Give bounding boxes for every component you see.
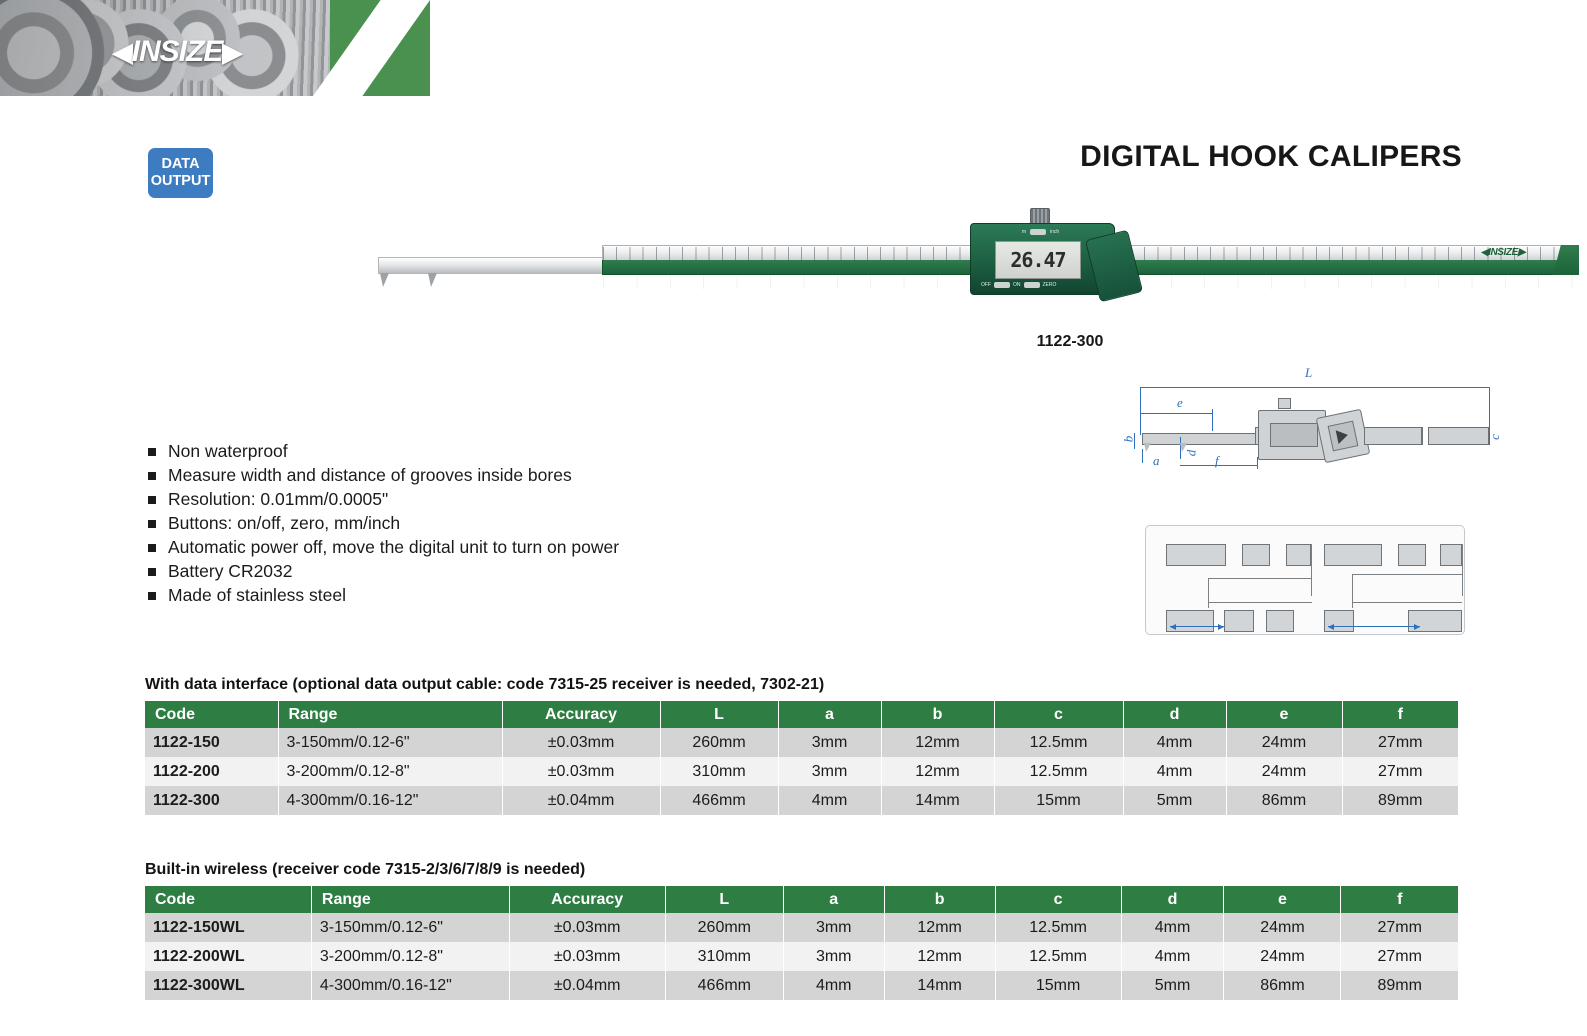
col-header-range: Range [278,701,502,728]
app-left-top-part-c [1286,544,1311,566]
cell-e: 24mm [1224,913,1341,942]
list-item: Made of stainless steel [148,584,788,607]
logo-left-arrow-icon: ◀ [113,37,132,68]
cell-b: 12mm [884,942,995,971]
cell-accuracy: ±0.04mm [509,971,665,1000]
app-left-tool-bottom [1208,602,1312,603]
data-interface-table: Code Range Accuracy L a b c d e f 1122-1… [145,701,1458,815]
feature-text: Battery CR2032 [168,560,293,583]
list-item: Resolution: 0.01mm/0.0005" [148,488,788,511]
col-header-a: a [783,886,884,913]
cell-range: 4-300mm/0.16-12" [311,971,509,1000]
app-left-tool-top [1208,578,1312,579]
dim-ext-L-left [1140,387,1141,435]
diagram-thumb-roller [1278,398,1291,409]
cell-e: 86mm [1226,786,1342,815]
hook-jaw-tip-1-icon [380,273,389,287]
diagram-beam-mid [1364,427,1422,445]
dim-label-e: e [1177,395,1183,411]
app-left-break-line [1311,544,1312,596]
col-header-range: Range [311,886,509,913]
wireless-table-section: Built-in wireless (receiver code 7315-2/… [145,861,1458,1000]
cell-e: 24mm [1226,757,1342,786]
cell-range: 4-300mm/0.16-12" [278,786,502,815]
feature-text: Resolution: 0.01mm/0.0005" [168,488,388,511]
dim-ext-a [1142,449,1143,463]
cell-c: 12.5mm [995,942,1121,971]
zero-label: ZERO [1043,282,1057,288]
data-output-badge: DATA OUTPUT [148,148,213,198]
app-left-bot-part-b [1224,610,1254,632]
cell-f: 89mm [1342,786,1458,815]
diagram-hook-tip-2-icon [1180,443,1187,452]
page-title: DIGITAL HOOK CALIPERS [1080,140,1462,174]
col-header-d: d [1121,886,1224,913]
app-right-tool-top [1352,574,1462,575]
diagram-head-lcd [1270,423,1318,447]
list-item: Automatic power off, move the digital un… [148,536,788,559]
head-triangle-icon [1105,257,1121,276]
square-bullet-icon [148,520,156,528]
col-header-a: a [778,701,881,728]
cell-e: 24mm [1226,728,1342,757]
table-row: 1122-150 3-150mm/0.12-6" ±0.03mm 260mm 3… [145,728,1458,757]
beam-insize-logo: ◀INSIZE▶ [1443,245,1563,260]
cell-f: 27mm [1342,757,1458,786]
cell-L: 260mm [660,728,778,757]
app-left-top-part-a [1166,544,1226,566]
badge-line-1: DATA [161,156,199,173]
col-header-accuracy: Accuracy [509,886,665,913]
cell-b: 12mm [884,913,995,942]
dim-label-f: f [1215,453,1219,469]
list-item: Measure width and distance of grooves in… [148,464,788,487]
cell-accuracy: ±0.03mm [502,757,660,786]
feature-text: Buttons: on/off, zero, mm/inch [168,512,400,535]
cell-range: 3-150mm/0.12-6" [278,728,502,757]
table-row: 1122-200 3-200mm/0.12-8" ±0.03mm 310mm 3… [145,757,1458,786]
list-item: Buttons: on/off, zero, mm/inch [148,512,788,535]
cell-accuracy: ±0.03mm [509,942,665,971]
col-header-c: c [994,701,1123,728]
cell-a: 4mm [783,971,884,1000]
cell-range: 3-150mm/0.12-6" [311,913,509,942]
col-header-b: b [881,701,994,728]
cell-code: 1122-150WL [145,913,311,942]
app-left-tool-shank [1208,578,1209,608]
cell-d: 5mm [1121,971,1224,1000]
dim-ext-e [1212,409,1213,431]
square-bullet-icon [148,544,156,552]
dim-line-e [1140,413,1213,414]
diagram-beam-right [1428,427,1489,445]
cell-L: 310mm [665,942,783,971]
list-item: Battery CR2032 [148,560,788,583]
col-header-f: f [1342,701,1458,728]
onoff-button[interactable] [994,282,1010,288]
app-left-top-part-b [1242,544,1270,566]
cell-L: 466mm [665,971,783,1000]
off-label: OFF [981,282,991,288]
cell-range: 3-200mm/0.12-8" [311,942,509,971]
table-row: 1122-150WL 3-150mm/0.12-6" ±0.03mm 260mm… [145,913,1458,942]
cell-d: 5mm [1123,786,1226,815]
diagram-break-mark [1421,427,1423,445]
cell-c: 15mm [995,971,1121,1000]
table-row: 1122-300 4-300mm/0.16-12" ±0.04mm 466mm … [145,786,1458,815]
wireless-table: Code Range Accuracy L a b c d e f 1122-1… [145,886,1458,1000]
top-button-left-label: m [1022,229,1026,235]
feature-text: Measure width and distance of grooves in… [168,464,572,487]
head-button-row[interactable]: OFF ON ZERO [981,279,1109,290]
app-right-top-part-b [1398,544,1426,566]
app-right-top-part-c [1440,544,1462,566]
feature-text: Made of stainless steel [168,584,346,607]
cell-d: 4mm [1121,913,1224,942]
square-bullet-icon [148,568,156,576]
cell-c: 12.5mm [994,757,1123,786]
product-model-caption: 1122-300 [930,333,1210,351]
cell-code: 1122-300 [145,786,278,815]
dim-label-L: L [1305,365,1312,381]
caliper-digital-head: m inch 26.47 OFF ON ZERO [970,223,1115,295]
app-left-bot-part-c [1266,610,1294,632]
square-bullet-icon [148,448,156,456]
table-row: 1122-300WL 4-300mm/0.16-12" ±0.04mm 466m… [145,971,1458,1000]
square-bullet-icon [148,592,156,600]
cell-b: 12mm [881,728,994,757]
top-button-key[interactable] [1030,229,1046,235]
page-banner: ◀ INSIZE ▶ [0,0,1587,96]
cell-e: 86mm [1224,971,1341,1000]
cell-f: 27mm [1341,913,1458,942]
col-header-code: Code [145,886,311,913]
col-header-b: b [884,886,995,913]
cell-L: 466mm [660,786,778,815]
feature-text: Non waterproof [168,440,288,463]
diagram-hook-tip-1-icon [1144,443,1151,452]
col-header-e: e [1224,886,1341,913]
cell-accuracy: ±0.03mm [509,913,665,942]
cell-a: 4mm [778,786,881,815]
app-right-measure-arrow [1328,626,1420,627]
col-header-code: Code [145,701,278,728]
features-list: Non waterproof Measure width and distanc… [148,440,788,608]
cell-d: 4mm [1123,728,1226,757]
cell-e: 24mm [1224,942,1341,971]
table-header-row: Code Range Accuracy L a b c d e f [145,886,1458,913]
table-header-row: Code Range Accuracy L a b c d e f [145,701,1458,728]
cell-code: 1122-300WL [145,971,311,1000]
cell-b: 14mm [884,971,995,1000]
cell-range: 3-200mm/0.12-8" [278,757,502,786]
col-header-L: L [665,886,783,913]
col-header-c: c [995,886,1121,913]
cell-L: 310mm [660,757,778,786]
app-right-break-line [1462,544,1463,596]
cell-code: 1122-200WL [145,942,311,971]
banner-white-area [430,0,1587,96]
dim-line-b [1134,433,1135,449]
col-header-d: d [1123,701,1226,728]
data-interface-table-section: With data interface (optional data outpu… [145,676,1458,815]
on-label: ON [1013,282,1021,288]
cell-c: 12.5mm [995,913,1121,942]
col-header-accuracy: Accuracy [502,701,660,728]
insize-logo: ◀ INSIZE ▶ [92,34,262,70]
zero-button[interactable] [1024,282,1040,288]
dim-ext-L-right [1489,387,1490,432]
dimension-diagram: L e b a d f c [1120,365,1510,490]
logo-text: INSIZE [132,35,223,69]
cell-a: 3mm [778,728,881,757]
list-item: Non waterproof [148,440,788,463]
cell-f: 27mm [1341,942,1458,971]
top-button-right-label: inch [1050,229,1059,235]
cell-accuracy: ±0.03mm [502,728,660,757]
feature-text: Automatic power off, move the digital un… [168,536,619,559]
badge-line-2: OUTPUT [151,173,211,190]
lcd-display: 26.47 [995,241,1081,279]
hook-jaw-tip-2-icon [428,273,437,287]
app-right-top-part-a [1324,544,1382,566]
cell-a: 3mm [778,757,881,786]
col-header-L: L [660,701,778,728]
cell-f: 27mm [1342,728,1458,757]
dim-line-f [1180,465,1258,466]
cell-b: 12mm [881,757,994,786]
cell-L: 260mm [665,913,783,942]
dim-line-c [1489,427,1490,445]
cell-b: 14mm [881,786,994,815]
dim-line-L [1140,387,1490,388]
cell-d: 4mm [1121,942,1224,971]
dim-ext-f [1257,457,1258,469]
head-top-button[interactable]: m inch [993,228,1088,236]
cell-d: 4mm [1123,757,1226,786]
caliper-hook-blade [378,257,608,274]
table-title: With data interface (optional data outpu… [145,676,1458,694]
app-left-measure-arrow [1170,626,1224,627]
table-title: Built-in wireless (receiver code 7315-2/… [145,861,1458,879]
thumb-roller-icon [1030,208,1050,224]
product-photo: ◀INSIZE▶ m inch 26.47 OFF ON ZERO 1122-3… [370,205,1350,310]
logo-right-arrow-icon: ▶ [222,37,241,68]
col-header-f: f [1341,886,1458,913]
application-diagram [1145,525,1465,635]
cell-code: 1122-150 [145,728,278,757]
cell-accuracy: ±0.04mm [502,786,660,815]
square-bullet-icon [148,472,156,480]
table-row: 1122-200WL 3-200mm/0.12-8" ±0.03mm 310mm… [145,942,1458,971]
diagram-hook-blade [1142,433,1259,445]
col-header-e: e [1226,701,1342,728]
dim-label-a: a [1153,453,1160,469]
app-right-tool-bottom [1352,602,1462,603]
cell-f: 89mm [1341,971,1458,1000]
cell-c: 12.5mm [994,728,1123,757]
square-bullet-icon [148,496,156,504]
cell-code: 1122-200 [145,757,278,786]
cell-a: 3mm [783,942,884,971]
cell-a: 3mm [783,913,884,942]
cell-c: 15mm [994,786,1123,815]
